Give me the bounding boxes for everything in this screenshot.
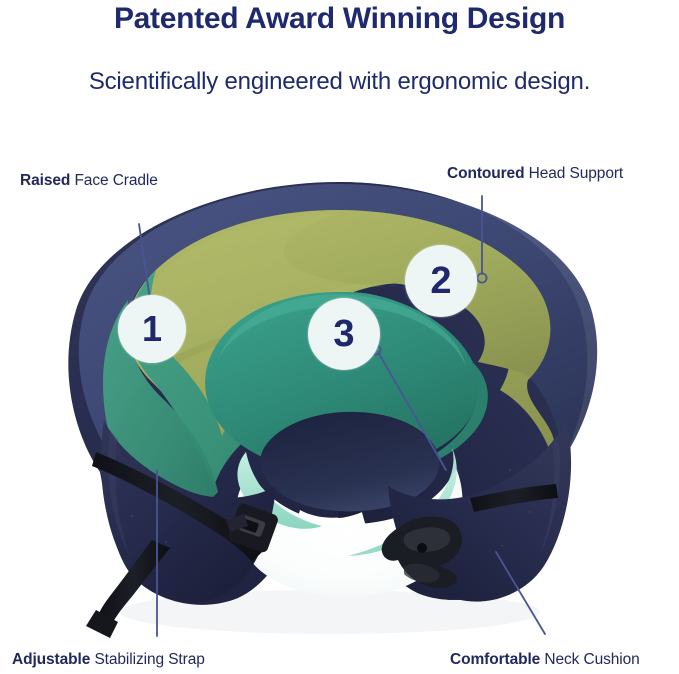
badge-1[interactable]: 1 xyxy=(118,295,186,363)
callout-bold-2: Contoured xyxy=(447,165,524,182)
badge-3[interactable]: 3 xyxy=(308,298,380,370)
callout-bold-3: Adjustable xyxy=(12,651,90,668)
callout-contoured-head-support: Contoured Head Support xyxy=(447,165,623,183)
callout-comfortable-neck-cushion: Comfortable Neck Cushion xyxy=(450,651,640,669)
callout-rest-3: Stabilizing Strap xyxy=(90,651,205,668)
badge-2[interactable]: 2 xyxy=(405,245,477,317)
callout-raised-face-cradle: Raised Face Cradle xyxy=(20,172,158,190)
callout-adjustable-stabilizing-strap: Adjustable Stabilizing Strap xyxy=(12,651,205,669)
callout-rest-4: Neck Cushion xyxy=(540,651,640,668)
infographic-root: Patented Award Winning Design Scientific… xyxy=(0,0,679,674)
callout-bold-1: Raised xyxy=(20,172,70,189)
callout-rest-2: Head Support xyxy=(524,165,623,182)
callout-rest-1: Face Cradle xyxy=(70,172,158,189)
callout-bold-4: Comfortable xyxy=(450,651,540,668)
